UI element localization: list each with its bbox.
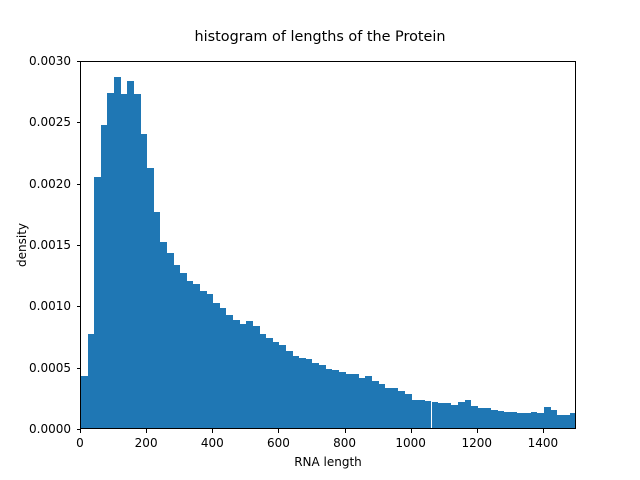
histogram-bar <box>432 402 439 428</box>
histogram-bar <box>537 413 544 428</box>
histogram-bar <box>465 400 472 428</box>
histogram-bar <box>570 413 575 428</box>
histogram-bar <box>240 324 247 428</box>
histogram-bar <box>253 326 260 428</box>
histogram-bar <box>498 411 505 428</box>
histogram-bar <box>372 381 379 428</box>
histogram-bar <box>226 315 233 428</box>
x-tick-mark <box>477 429 478 433</box>
histogram-bar <box>451 405 458 428</box>
histogram-bar <box>88 334 95 428</box>
histogram-bar <box>134 94 141 428</box>
histogram-bar <box>511 412 518 428</box>
histogram-bar <box>286 351 293 428</box>
y-tick-label: 0.0010 <box>29 300 71 312</box>
y-tick-mark <box>77 122 81 123</box>
x-tick-mark <box>543 429 544 433</box>
y-axis-label: density <box>14 61 30 429</box>
histogram-bar <box>260 334 267 428</box>
y-tick-mark <box>77 368 81 369</box>
histogram-bar <box>279 345 286 428</box>
histogram-bars <box>81 62 575 428</box>
y-tick-label: 0.0020 <box>29 178 71 190</box>
histogram-bar <box>167 253 174 428</box>
x-tick-mark <box>278 429 279 433</box>
plot-area <box>81 62 575 428</box>
histogram-bar <box>114 77 121 428</box>
histogram-bar <box>121 94 128 428</box>
plot-axes <box>80 61 576 429</box>
x-tick-mark <box>80 429 81 433</box>
x-tick-mark <box>411 429 412 433</box>
histogram-bar <box>266 338 273 428</box>
histogram-bar <box>306 359 313 428</box>
y-tick-mark <box>77 184 81 185</box>
histogram-bar <box>346 374 353 428</box>
histogram-bar <box>273 342 280 428</box>
histogram-bar <box>154 212 161 428</box>
histogram-bar <box>524 413 531 428</box>
histogram-bar <box>365 376 372 428</box>
histogram-bar <box>359 378 366 428</box>
histogram-bar <box>101 125 108 428</box>
histogram-bar <box>293 356 300 428</box>
x-tick-mark <box>345 429 346 433</box>
histogram-bar <box>392 388 399 428</box>
histogram-bar <box>141 134 148 428</box>
y-tick-label: 0.0015 <box>29 239 71 251</box>
histogram-bar <box>332 370 339 428</box>
histogram-bar <box>213 303 220 428</box>
histogram-bar <box>551 410 558 428</box>
histogram-bar <box>187 281 194 428</box>
histogram-bar <box>379 384 386 428</box>
histogram-bar <box>478 408 485 428</box>
x-tick-mark <box>146 429 147 433</box>
matplotlib-figure: histogram of lengths of the Protein 0.00… <box>0 0 640 480</box>
histogram-bar <box>207 294 214 428</box>
histogram-bar <box>299 358 306 428</box>
y-tick-label: 0.0030 <box>29 55 71 67</box>
histogram-bar <box>491 410 498 428</box>
x-tick-label: 1400 <box>503 436 583 450</box>
histogram-bar <box>504 412 511 428</box>
histogram-bar <box>564 415 571 428</box>
y-tick-mark <box>77 306 81 307</box>
histogram-bar <box>398 391 405 428</box>
histogram-bar <box>471 406 478 428</box>
histogram-bar <box>193 284 200 428</box>
histogram-bar <box>438 403 445 428</box>
histogram-bar <box>326 369 333 428</box>
histogram-bar <box>174 265 181 428</box>
y-tick-label: 0.0000 <box>29 423 71 435</box>
histogram-bar <box>312 363 319 428</box>
histogram-bar <box>81 376 88 428</box>
histogram-bar <box>180 273 187 428</box>
histogram-bar <box>405 394 412 428</box>
histogram-bar <box>220 308 227 428</box>
histogram-bar <box>107 93 114 428</box>
y-tick-label: 0.0025 <box>29 116 71 128</box>
histogram-bar <box>339 372 346 428</box>
histogram-bar <box>319 365 326 428</box>
histogram-bar <box>445 403 452 428</box>
y-tick-label: 0.0005 <box>29 362 71 374</box>
histogram-bar <box>517 413 524 428</box>
histogram-bar <box>458 402 465 428</box>
histogram-bar <box>94 177 101 428</box>
histogram-bar <box>160 242 167 428</box>
histogram-bar <box>484 408 491 428</box>
y-tick-mark <box>77 61 81 62</box>
histogram-bar <box>246 321 253 428</box>
histogram-bar <box>557 415 564 428</box>
histogram-bar <box>352 374 359 428</box>
histogram-bar <box>147 168 154 428</box>
histogram-bar <box>200 291 207 428</box>
histogram-bar <box>418 400 425 428</box>
histogram-bar <box>127 81 134 428</box>
y-tick-mark <box>77 245 81 246</box>
histogram-bar <box>385 388 392 428</box>
x-axis-label: RNA length <box>80 455 576 469</box>
chart-title: histogram of lengths of the Protein <box>0 28 640 46</box>
x-tick-mark <box>212 429 213 433</box>
histogram-bar <box>233 320 240 428</box>
histogram-bar <box>544 407 551 428</box>
histogram-bar <box>531 412 538 428</box>
histogram-bar <box>412 400 419 428</box>
histogram-bar <box>425 401 432 428</box>
